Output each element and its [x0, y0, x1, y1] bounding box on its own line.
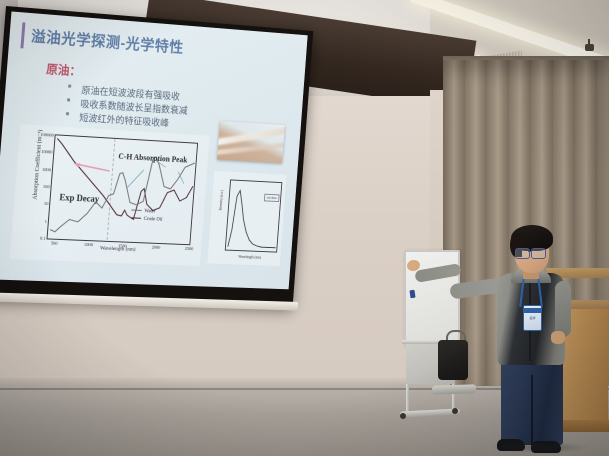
bullet-marker-icon	[68, 85, 71, 88]
ceiling-camera	[585, 44, 594, 51]
y-tick-label: 0.1	[40, 236, 46, 241]
glasses-lens-left-icon	[515, 248, 530, 259]
slide-accent-bar	[20, 22, 25, 48]
presentation-slide: 溢油光学探测-光学特性 原油： 原油在短波波段有强吸收 吸收系数随波长呈指数衰减…	[0, 11, 308, 289]
bullet-marker-icon	[67, 98, 70, 101]
legend-swatch-crude-oil	[131, 218, 141, 219]
chart-plot-area: 100000 10000 1000 100 10 1 0.1 500 1000 …	[46, 134, 198, 245]
inset-series-svg	[226, 180, 282, 251]
glasses-bridge-icon	[528, 251, 531, 252]
absorption-chart: Absorption Coefficient (m⁻¹) 100000 1000…	[10, 124, 210, 266]
slide-bullet-label: 短波红外的特征吸收峰	[79, 113, 170, 129]
glasses-lens-right-icon	[531, 248, 546, 259]
badge-header-band	[524, 308, 541, 313]
legend-swatch-water	[131, 210, 141, 211]
badge-text: 名牌	[524, 316, 541, 320]
projection-screen: 溢油光学探测-光学特性 原油： 原油在短波波段有强吸收 吸收系数随波长呈指数衰减…	[0, 6, 313, 308]
y-tick-label: 100	[43, 184, 50, 189]
legend-label-crude-oil: Crude Oil	[144, 217, 163, 223]
inset-spectrum-chart: Intensity (a.u.) Oil film Wavelength (nm…	[207, 171, 286, 266]
chart-legend: Water Crude Oil	[130, 208, 163, 225]
ch-peak-pointer-1	[126, 169, 143, 189]
oil-slick-photo	[217, 121, 285, 163]
series-crude-oil-line	[51, 138, 196, 222]
presenter-left-hand	[551, 331, 565, 344]
y-tick-label: 1	[45, 219, 48, 224]
chart-annotation-exp-decay: Exp Decay	[59, 192, 99, 204]
presenter-floor-shadow	[490, 442, 590, 453]
inset-legend-label: Oil film	[264, 194, 280, 202]
chart-x-axis-label: Wavelength (nm)	[46, 243, 188, 254]
inset-plot-area: Oil film	[225, 179, 283, 252]
bullet-marker-icon	[66, 112, 69, 115]
y-tick-label: 10000	[41, 149, 53, 155]
y-tick-label: 100000	[40, 132, 54, 138]
y-tick-label: 10	[44, 201, 49, 206]
whiteboard-magnet	[409, 290, 415, 299]
inset-x-axis-label: Wavelength (nm)	[224, 254, 275, 260]
slide-subtitle: 原油：	[46, 60, 82, 79]
y-tick-label: 1000	[42, 167, 51, 172]
legend-item-crude-oil: Crude Oil	[130, 215, 162, 224]
photo-shore-streak	[217, 142, 285, 155]
inset-y-axis-label: Intensity (a.u.)	[217, 171, 225, 229]
presenter-name-badge: 名牌	[523, 305, 542, 331]
presentation-room-photo: 溢油光学探测-光学特性 原油： 原油在短波波段有强吸收 吸收系数随波长呈指数衰减…	[0, 0, 609, 456]
slide-title: 溢油光学探测-光学特性	[30, 25, 292, 65]
legend-label-water: Water	[144, 209, 155, 214]
presenter: 名牌	[455, 215, 609, 456]
whiteboard-caster	[400, 413, 406, 419]
presenter-jeans-seam	[531, 375, 533, 445]
presenter-right-upper-arm	[449, 277, 503, 299]
presenter-left-arm	[555, 281, 571, 337]
